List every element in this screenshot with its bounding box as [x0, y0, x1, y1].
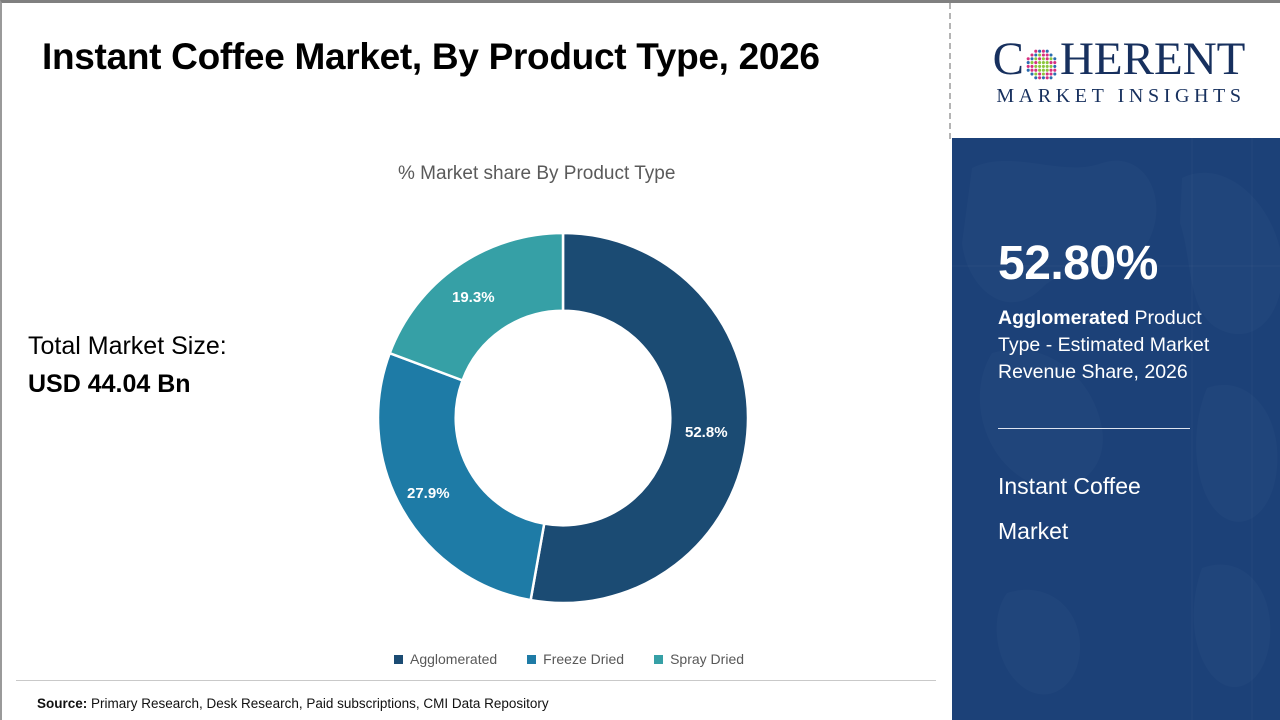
- panel-description: Agglomerated Product Type - Estimated Ma…: [998, 305, 1238, 386]
- legend-swatch-icon: [654, 655, 663, 664]
- slice-label-freeze-dried: 27.9%: [407, 485, 450, 502]
- panel-description-bold: Agglomerated: [998, 307, 1129, 329]
- legend-item[interactable]: Freeze Dried: [527, 651, 624, 667]
- logo-tagline: MARKET INSIGHTS: [992, 85, 1245, 108]
- globe-dots-icon-svg: [1025, 48, 1059, 82]
- panel-headline-percent: 52.80%: [998, 240, 1238, 288]
- legend-label: Freeze Dried: [543, 651, 624, 667]
- panel-content: 52.80% Agglomerated Product Type - Estim…: [952, 240, 1280, 554]
- legend-item[interactable]: Agglomerated: [394, 651, 497, 667]
- slice-label-spray-dried: 19.3%: [452, 289, 495, 306]
- donut-slice: [390, 233, 563, 380]
- infographic-page: Instant Coffee Market, By Product Type, …: [0, 0, 1280, 720]
- total-market-size-value: USD 44.04 Bn: [28, 365, 227, 403]
- source-note: Source: Primary Research, Desk Research,…: [37, 696, 549, 711]
- panel-divider: [998, 428, 1190, 429]
- legend-label: Spray Dried: [670, 651, 744, 667]
- brand-logo: C HERENT MARKET INSIGHTS: [958, 5, 1280, 138]
- panel-market-line-2: Market: [998, 509, 1238, 554]
- legend-label: Agglomerated: [410, 651, 497, 667]
- total-market-size-label: Total Market Size:: [28, 327, 227, 365]
- source-label: Source:: [37, 696, 87, 711]
- chart-subtitle: % Market share By Product Type: [398, 163, 675, 185]
- highlight-panel: 52.80% Agglomerated Product Type - Estim…: [952, 138, 1280, 720]
- donut-slice: [378, 353, 544, 600]
- vertical-dashed-divider: [949, 3, 951, 139]
- donut-chart-svg: [378, 233, 748, 603]
- panel-market-line-1: Instant Coffee: [998, 464, 1238, 509]
- panel-market-name: Instant Coffee Market: [998, 464, 1238, 554]
- logo-wordmark: C HERENT: [993, 36, 1246, 83]
- donut-chart: [378, 233, 748, 603]
- slice-label-agglomerated: 52.8%: [685, 424, 728, 441]
- globe-dots-icon: [1025, 44, 1059, 78]
- logo-letters-herent: HERENT: [1060, 36, 1245, 83]
- chart-legend: AgglomeratedFreeze DriedSpray Dried: [394, 651, 744, 667]
- legend-swatch-icon: [394, 655, 403, 664]
- source-text: Primary Research, Desk Research, Paid su…: [87, 696, 548, 711]
- footer-divider: [16, 680, 936, 681]
- legend-item[interactable]: Spray Dried: [654, 651, 744, 667]
- page-title: Instant Coffee Market, By Product Type, …: [42, 36, 820, 78]
- legend-swatch-icon: [527, 655, 536, 664]
- total-market-size-block: Total Market Size: USD 44.04 Bn: [28, 327, 227, 403]
- logo-letter-c: C: [993, 36, 1024, 83]
